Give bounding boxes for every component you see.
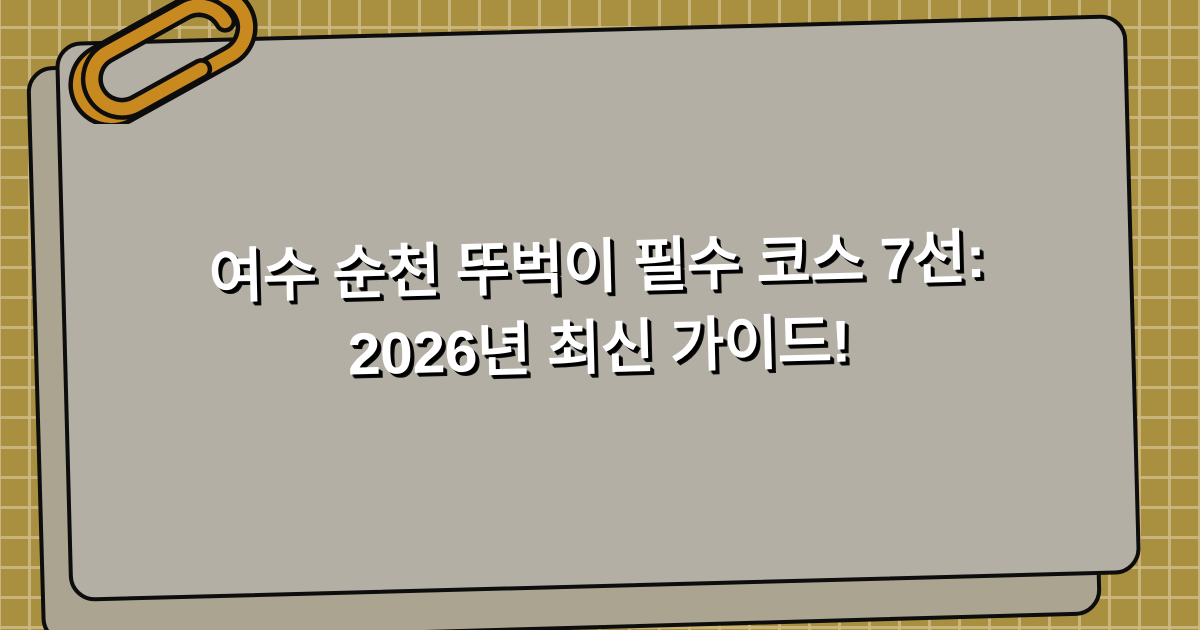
title-line-2: 2026년 최신 가이드! [347,301,852,396]
title-block: 여수 순천 뚜벅이 필수 코스 7선: 2026년 최신 가이드! [55,14,1141,602]
share-card-canvas: 여수 순천 뚜벅이 필수 코스 7선: 2026년 최신 가이드! [0,0,1200,630]
title-line-1: 여수 순천 뚜벅이 필수 코스 7선: [208,216,986,318]
